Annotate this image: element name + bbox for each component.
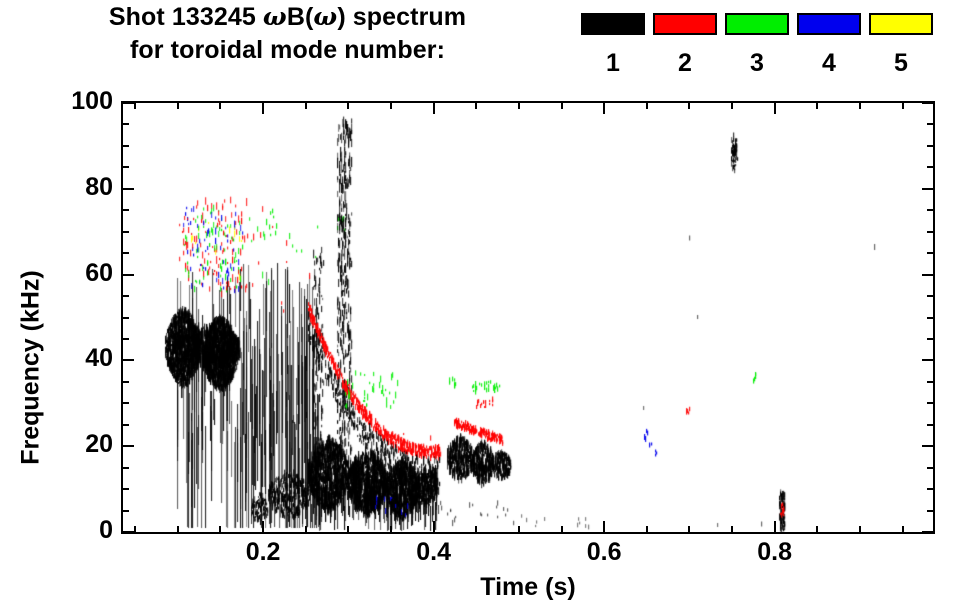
y-tick-label-40: 40 bbox=[13, 346, 113, 371]
x-tick-label-0.4: 0.4 bbox=[389, 537, 479, 567]
legend-label-4: 4 bbox=[797, 48, 861, 78]
title-shot-text: Shot 133245 bbox=[109, 3, 263, 31]
spectrogram-figure: Shot 133245 ωB(ω) spectrum for toroidal … bbox=[0, 0, 963, 615]
legend-swatch-2 bbox=[653, 13, 717, 35]
y-tick-label-20: 20 bbox=[13, 432, 113, 457]
spectrogram-canvas bbox=[123, 103, 933, 532]
legend: 1 2 3 4 5 bbox=[578, 0, 938, 92]
legend-swatch-1 bbox=[581, 13, 645, 35]
y-tick-label-80: 80 bbox=[13, 175, 113, 200]
title-b-text: B( bbox=[287, 3, 314, 31]
x-tick-label-0.2: 0.2 bbox=[218, 537, 308, 567]
x-axis-labels: 0.20.40.60.8 bbox=[121, 537, 935, 577]
plot-area bbox=[121, 101, 935, 534]
legend-label-3: 3 bbox=[725, 48, 789, 78]
y-axis-labels: Frequency (kHz) 020406080100 bbox=[0, 101, 113, 534]
x-axis-title: Time (s) bbox=[121, 573, 935, 602]
y-tick-label-60: 60 bbox=[13, 261, 113, 286]
legend-swatch-3 bbox=[725, 13, 789, 35]
figure-title-line-1: Shot 133245 ωB(ω) spectrum bbox=[0, 0, 575, 34]
legend-swatch-5 bbox=[869, 13, 933, 35]
legend-swatch-4 bbox=[797, 13, 861, 35]
title-spectrum-text: ) spectrum bbox=[337, 3, 466, 31]
spectrogram-canvas-wrapper bbox=[123, 103, 933, 532]
legend-label-2: 2 bbox=[653, 48, 717, 78]
legend-label-5: 5 bbox=[869, 48, 933, 78]
y-tick-label-0: 0 bbox=[13, 518, 113, 543]
legend-label-1: 1 bbox=[581, 48, 645, 78]
y-tick-label-100: 100 bbox=[13, 89, 113, 114]
omega-symbol-2: ω bbox=[313, 2, 337, 31]
omega-symbol-1: ω bbox=[263, 2, 287, 31]
x-tick-label-0.8: 0.8 bbox=[730, 537, 820, 567]
x-tick-label-0.6: 0.6 bbox=[559, 537, 649, 567]
figure-title: Shot 133245 ωB(ω) spectrum for toroidal … bbox=[0, 0, 575, 67]
figure-title-line-2: for toroidal mode number: bbox=[0, 34, 575, 67]
